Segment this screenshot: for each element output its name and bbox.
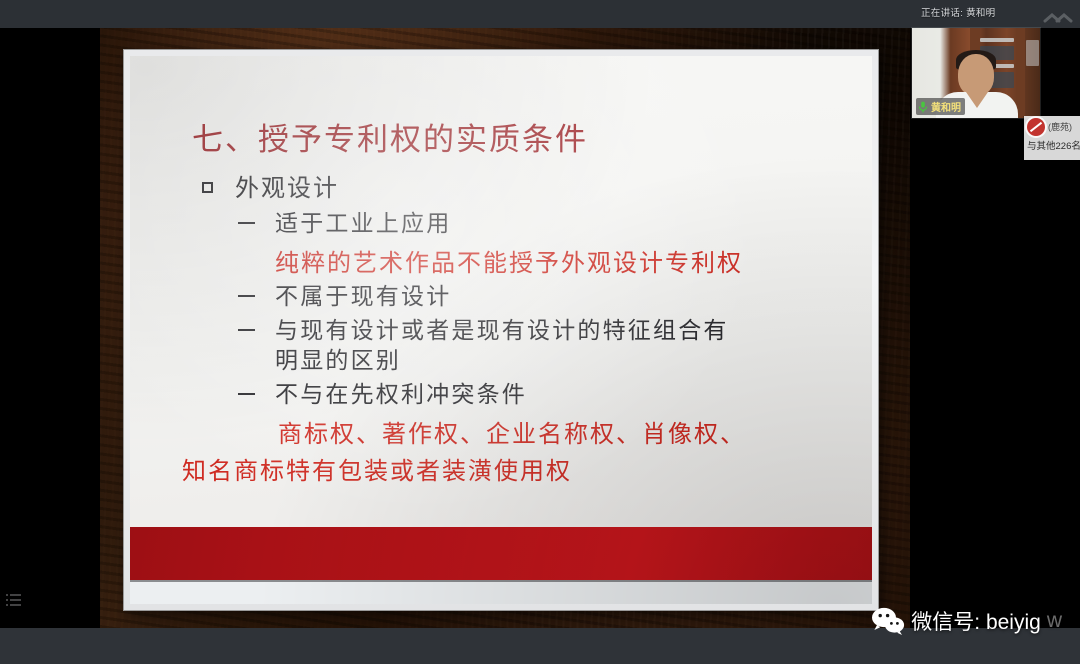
meeting-top-bar [0,0,1080,28]
video-participant-name: 黄和明 [931,99,961,114]
slide-point-2-text: 不属于现有设计 [275,284,451,310]
slide-footer-strip [130,582,872,604]
participants-room-label: (鹿苑) [1048,120,1072,133]
dash-bullet-icon [238,295,255,297]
slide-body: 外观设计 适于工业上应用 纯粹的艺术作品不能授予外观设计专利权 不属于现有设计 … [130,168,872,486]
chevron-collapse-icon[interactable] [1041,11,1075,25]
slide-red-note-1: 纯粹的艺术作品不能授予外观设计专利权 [275,243,872,278]
video-person-head [958,54,994,96]
active-speaker-label: 正在讲话: 黄和明 [921,5,995,19]
slide-point-3-text-wrap: 明显的区别 [275,346,872,377]
slide-point-4-text: 不与在先权利冲突条件 [275,382,527,408]
list-view-icon[interactable] [6,592,22,608]
watermark-text: 微信号: beiyig [911,606,1041,636]
slide-point-3-text: 与现有设计或者是现有设计的特征组合有 [275,318,729,344]
slide-red-note-3: 知名商标特有包装或者装潢使用权 [182,451,872,486]
slide-point-2: 不属于现有设计 [238,282,872,313]
participants-count-label: 与其他226名 [1027,138,1080,152]
slide-point-1-text: 适于工业上应用 [275,211,451,237]
microphone-on-icon [918,101,928,113]
slide-point-1: 适于工业上应用 [238,209,872,240]
slide-red-band [130,524,872,582]
wechat-watermark: 微信号: beiyig w [871,606,1062,636]
slide-point-3: 与现有设计或者是现有设计的特征组合有 明显的区别 [238,316,872,378]
projected-slide-frame: 七、授予专利权的实质条件 外观设计 适于工业上应用 纯粹的艺术作品不能授予外观设… [124,50,878,610]
dash-bullet-icon [238,393,255,395]
slide-section-heading: 外观设计 [202,168,872,203]
presentation-slide: 七、授予专利权的实质条件 外观设计 适于工业上应用 纯粹的艺术作品不能授予外观设… [130,56,872,604]
speaker-video-tile[interactable]: 黄和明 [912,28,1040,118]
slide-red-note-2: 商标权、著作权、企业名称权、肖像权、 [278,414,872,449]
watermark-text-faded: w [1047,609,1062,633]
square-bullet-icon [202,182,213,193]
dash-bullet-icon [238,329,255,331]
shared-screen-stage: 七、授予专利权的实质条件 外观设计 适于工业上应用 纯粹的艺术作品不能授予外观设… [0,28,1080,628]
video-name-badge: 黄和明 [916,98,965,115]
wechat-logo-icon [871,606,905,636]
slide-section-label: 外观设计 [235,174,339,202]
slide-point-4: 不与在先权利冲突条件 [238,380,872,411]
dash-bullet-icon [238,222,255,224]
microphone-muted-icon[interactable] [1027,118,1045,136]
slide-title: 七、授予专利权的实质条件 [192,114,588,159]
meeting-screen-share-window: 七、授予专利权的实质条件 外观设计 适于工业上应用 纯粹的艺术作品不能授予外观设… [0,0,1080,664]
